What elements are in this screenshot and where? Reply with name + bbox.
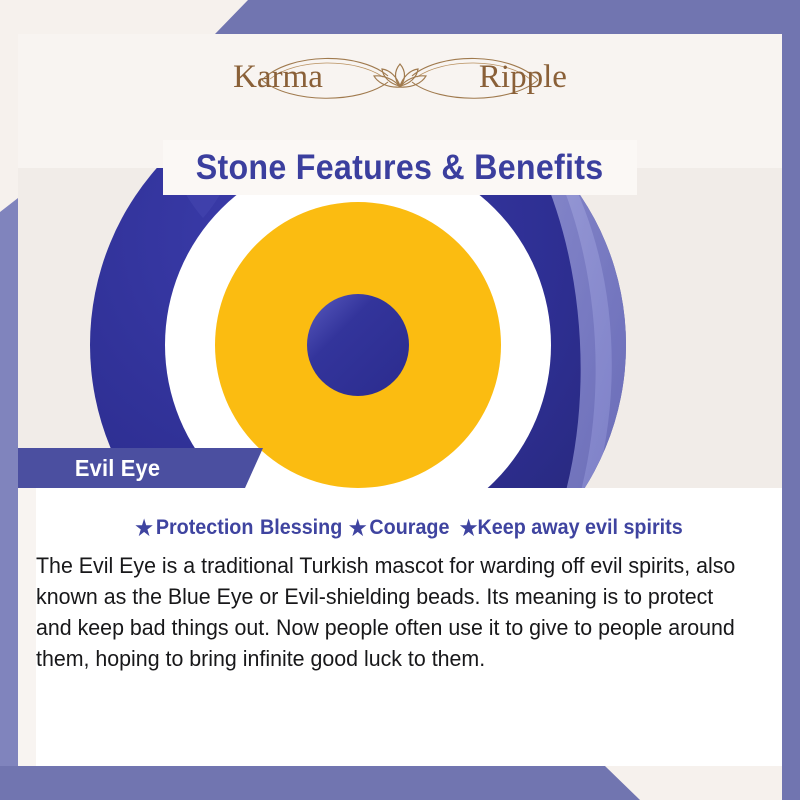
decorative-band-right [782, 0, 800, 800]
lotus-flower-icon [250, 44, 550, 110]
description-paragraph: The Evil Eye is a traditional Turkish ma… [36, 550, 737, 674]
infographic-page: Karma Ripple [0, 0, 800, 800]
benefit-keep-away-evil-spirits: Keep away evil spirits [478, 516, 683, 539]
stone-name-ribbon: Evil Eye [18, 448, 263, 488]
brand-logo: Karma Ripple [0, 44, 800, 110]
evil-eye-artwork [18, 168, 782, 488]
page-title: Stone Features & Benefits [196, 148, 604, 188]
decorative-band-top [215, 0, 800, 34]
content-panel: ★ProtectionBlessing★Courage★Keep away ev… [36, 488, 782, 766]
evil-eye-bead-svg [18, 168, 782, 488]
benefits-row: ★ProtectionBlessing★Courage★Keep away ev… [58, 516, 759, 541]
decorative-band-bottom [0, 766, 640, 800]
star-icon-1: ★ [135, 517, 153, 540]
page-title-card: Stone Features & Benefits [163, 140, 637, 195]
benefit-courage: Courage [369, 516, 449, 539]
star-icon-2: ★ [349, 517, 367, 540]
benefit-blessing: Blessing [260, 516, 342, 539]
benefit-protection: Protection [156, 516, 254, 539]
bead-blue-pupil [307, 294, 409, 396]
stone-name-label: Evil Eye [22, 455, 161, 482]
star-icon-3: ★ [460, 517, 478, 540]
decorative-band-left [0, 198, 18, 800]
